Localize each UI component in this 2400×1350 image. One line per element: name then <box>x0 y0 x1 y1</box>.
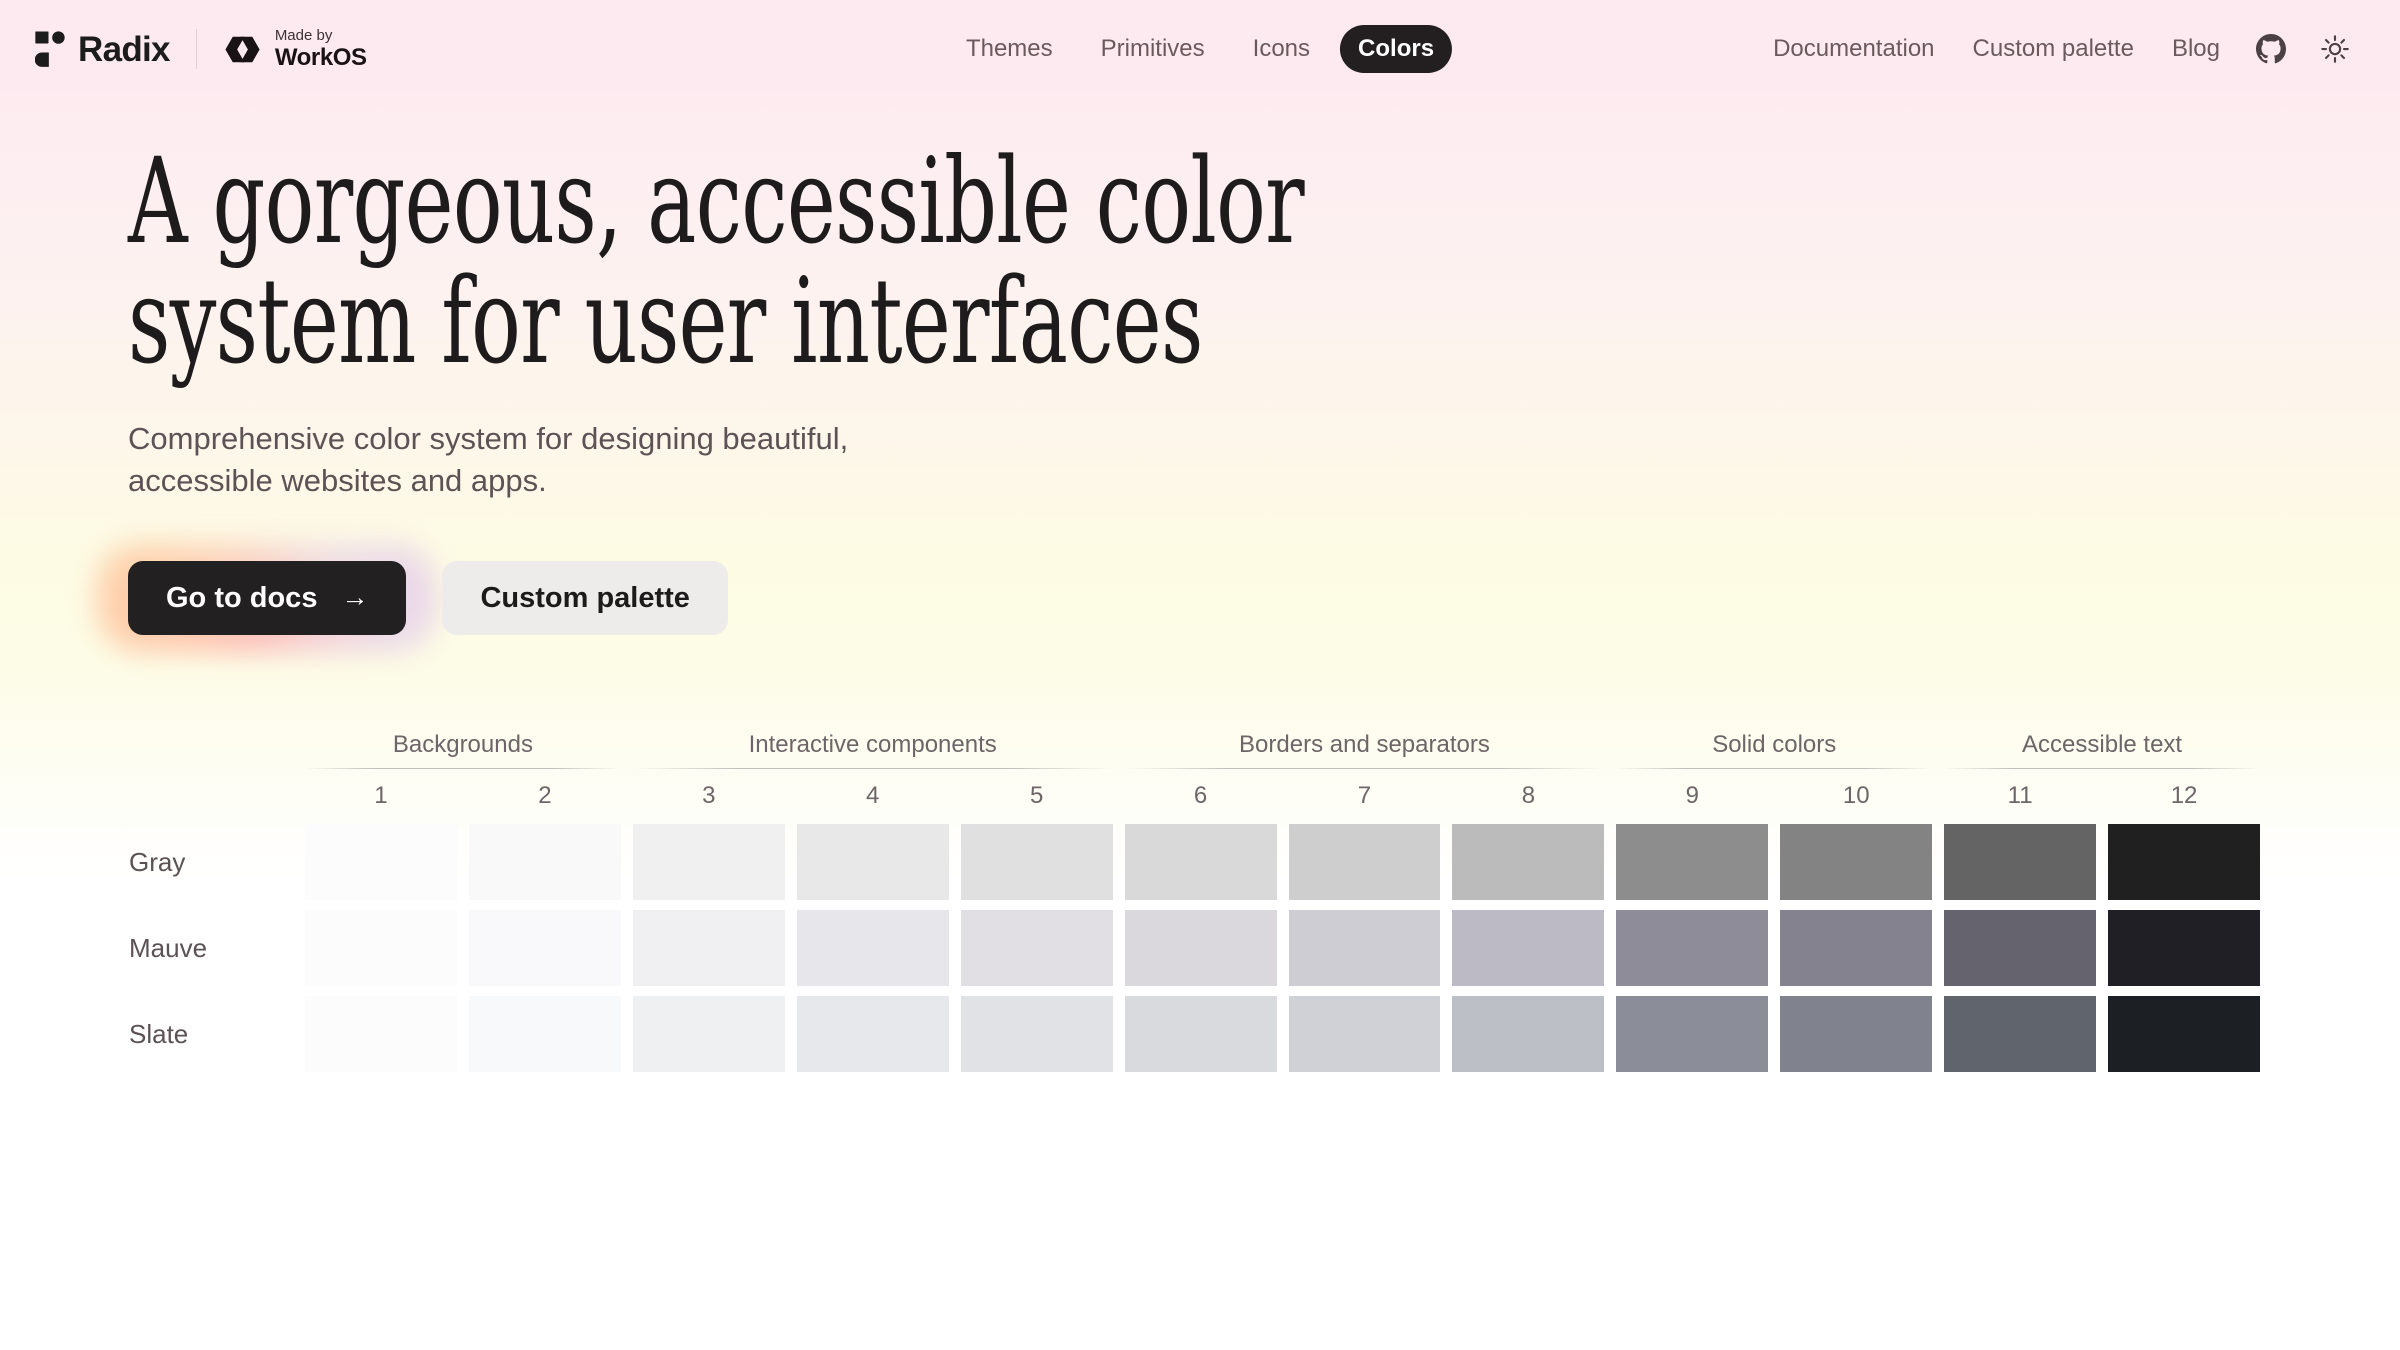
category-label-solid-colors: Solid colors <box>1616 731 1932 768</box>
scale-step-numbers-row: 1 2 3 4 5 6 7 8 9 10 11 12 <box>128 782 2260 810</box>
step-number: 7 <box>1289 782 1441 810</box>
color-swatch[interactable] <box>1289 996 1441 1072</box>
workos-text-block: Made by WorkOS <box>275 28 367 70</box>
step-number: 4 <box>797 782 949 810</box>
radix-home-link[interactable]: Radix <box>30 31 170 67</box>
step-number: 6 <box>1125 782 1277 810</box>
sun-icon[interactable] <box>2318 32 2352 66</box>
category-row-label-spacer <box>128 731 293 768</box>
color-swatch[interactable] <box>469 824 621 900</box>
color-swatch[interactable] <box>1616 996 1768 1072</box>
go-to-docs-button[interactable]: Go to docs → <box>128 561 406 635</box>
color-swatch[interactable] <box>469 910 621 986</box>
workos-made-by-label: Made by <box>275 28 367 43</box>
color-swatch[interactable] <box>1616 910 1768 986</box>
hero-actions: Go to docs → Custom palette <box>128 561 2400 635</box>
page-title: A gorgeous, accessible color system for … <box>128 151 1598 372</box>
color-swatch[interactable] <box>1780 824 1932 900</box>
color-swatch[interactable] <box>305 910 457 986</box>
rule-row-label-spacer <box>128 768 293 769</box>
hero-subtitle-line-1: Comprehensive color system for designing… <box>128 421 848 456</box>
swatch-rows-container: GrayMauveSlate <box>128 824 2260 1072</box>
scale-row-label: Gray <box>128 824 293 900</box>
category-label-borders-and-separators: Borders and separators <box>1125 731 1605 768</box>
color-swatch[interactable] <box>1289 910 1441 986</box>
workos-badge-link[interactable]: Made by WorkOS <box>223 28 367 70</box>
scale-row: Gray <box>128 824 2260 900</box>
category-rule-accessible-text <box>1944 768 2260 769</box>
color-swatch[interactable] <box>1452 996 1604 1072</box>
color-swatch[interactable] <box>633 910 785 986</box>
category-label-accessible-text: Accessible text <box>1944 731 2260 768</box>
nav-item-custom-palette[interactable]: Custom palette <box>1969 27 2138 71</box>
scale-row-label: Mauve <box>128 910 293 986</box>
hero-section: A gorgeous, accessible color system for … <box>0 98 2400 635</box>
nav-item-themes[interactable]: Themes <box>948 25 1071 73</box>
color-swatch[interactable] <box>1452 824 1604 900</box>
color-swatch[interactable] <box>961 996 1113 1072</box>
radix-logo-icon <box>35 31 65 67</box>
page-title-line-1: A gorgeous, accessible color <box>128 132 1304 270</box>
workos-wordmark: WorkOS <box>275 46 367 70</box>
color-swatch[interactable] <box>1616 824 1768 900</box>
arrow-right-icon: → <box>341 584 368 611</box>
primary-nav: Themes Primitives Icons Colors <box>948 25 1452 73</box>
step-number: 5 <box>961 782 1113 810</box>
workos-logo-icon <box>223 29 264 70</box>
brand-group: Radix Made by WorkOS <box>30 28 367 70</box>
color-swatch[interactable] <box>1125 996 1277 1072</box>
go-to-docs-wrapper: Go to docs → <box>128 561 406 635</box>
scale-row: Slate <box>128 996 2260 1072</box>
color-swatch[interactable] <box>2108 996 2260 1072</box>
step-number: 10 <box>1780 782 1932 810</box>
step-number: 3 <box>633 782 785 810</box>
color-swatch[interactable] <box>1944 824 2096 900</box>
color-swatch[interactable] <box>797 910 949 986</box>
color-swatch[interactable] <box>1452 910 1604 986</box>
site-header: Radix Made by WorkOS Themes Primitives I… <box>0 0 2400 98</box>
color-scales-section: Backgrounds Interactive components Borde… <box>0 731 2400 1072</box>
brand-divider <box>196 29 197 69</box>
color-swatch[interactable] <box>633 996 785 1072</box>
color-swatch[interactable] <box>797 996 949 1072</box>
page-title-line-2: system for user interfaces <box>128 271 1598 371</box>
color-swatch[interactable] <box>2108 910 2260 986</box>
scale-row-label: Slate <box>128 996 293 1072</box>
color-swatch[interactable] <box>305 996 457 1072</box>
color-swatch[interactable] <box>2108 824 2260 900</box>
nav-item-colors[interactable]: Colors <box>1340 25 1452 73</box>
step-number: 9 <box>1616 782 1768 810</box>
scale-row: Mauve <box>128 910 2260 986</box>
scale-category-rules-row <box>128 768 2260 769</box>
color-swatch[interactable] <box>469 996 621 1072</box>
color-swatch[interactable] <box>1125 824 1277 900</box>
nav-item-primitives[interactable]: Primitives <box>1083 25 1223 73</box>
category-rule-solid-colors <box>1616 768 1932 769</box>
step-number: 2 <box>469 782 621 810</box>
nav-item-documentation[interactable]: Documentation <box>1769 27 1938 71</box>
category-label-backgrounds: Backgrounds <box>305 731 621 768</box>
color-swatch[interactable] <box>1780 910 1932 986</box>
category-rule-interactive-components <box>633 768 1113 769</box>
color-swatch[interactable] <box>961 824 1113 900</box>
color-swatch[interactable] <box>633 824 785 900</box>
color-swatch[interactable] <box>797 824 949 900</box>
nav-item-icons[interactable]: Icons <box>1235 25 1328 73</box>
color-swatch[interactable] <box>961 910 1113 986</box>
go-to-docs-label: Go to docs <box>166 582 317 615</box>
category-rule-borders-and-separators <box>1125 768 1605 769</box>
github-icon[interactable] <box>2254 32 2288 66</box>
nav-item-blog[interactable]: Blog <box>2168 27 2224 71</box>
custom-palette-button[interactable]: Custom palette <box>442 561 727 635</box>
color-swatch[interactable] <box>1944 996 2096 1072</box>
radix-wordmark: Radix <box>78 32 170 67</box>
custom-palette-label: Custom palette <box>480 582 689 615</box>
color-swatch[interactable] <box>1289 824 1441 900</box>
category-label-interactive-components: Interactive components <box>633 731 1113 768</box>
step-number: 12 <box>2108 782 2260 810</box>
step-number: 8 <box>1452 782 1604 810</box>
color-swatch[interactable] <box>1944 910 2096 986</box>
category-rule-backgrounds <box>305 768 621 769</box>
step-row-label-spacer <box>128 782 293 810</box>
step-number: 1 <box>305 782 457 810</box>
secondary-nav: Documentation Custom palette Blog <box>1769 27 2370 71</box>
color-swatch[interactable] <box>305 824 457 900</box>
hero-subtitle: Comprehensive color system for designing… <box>128 418 1128 504</box>
color-swatch[interactable] <box>1125 910 1277 986</box>
color-swatch[interactable] <box>1780 996 1932 1072</box>
hero-subtitle-line-2: accessible websites and apps. <box>128 463 547 498</box>
step-number: 11 <box>1944 782 2096 810</box>
scale-category-labels-row: Backgrounds Interactive components Borde… <box>128 731 2260 768</box>
